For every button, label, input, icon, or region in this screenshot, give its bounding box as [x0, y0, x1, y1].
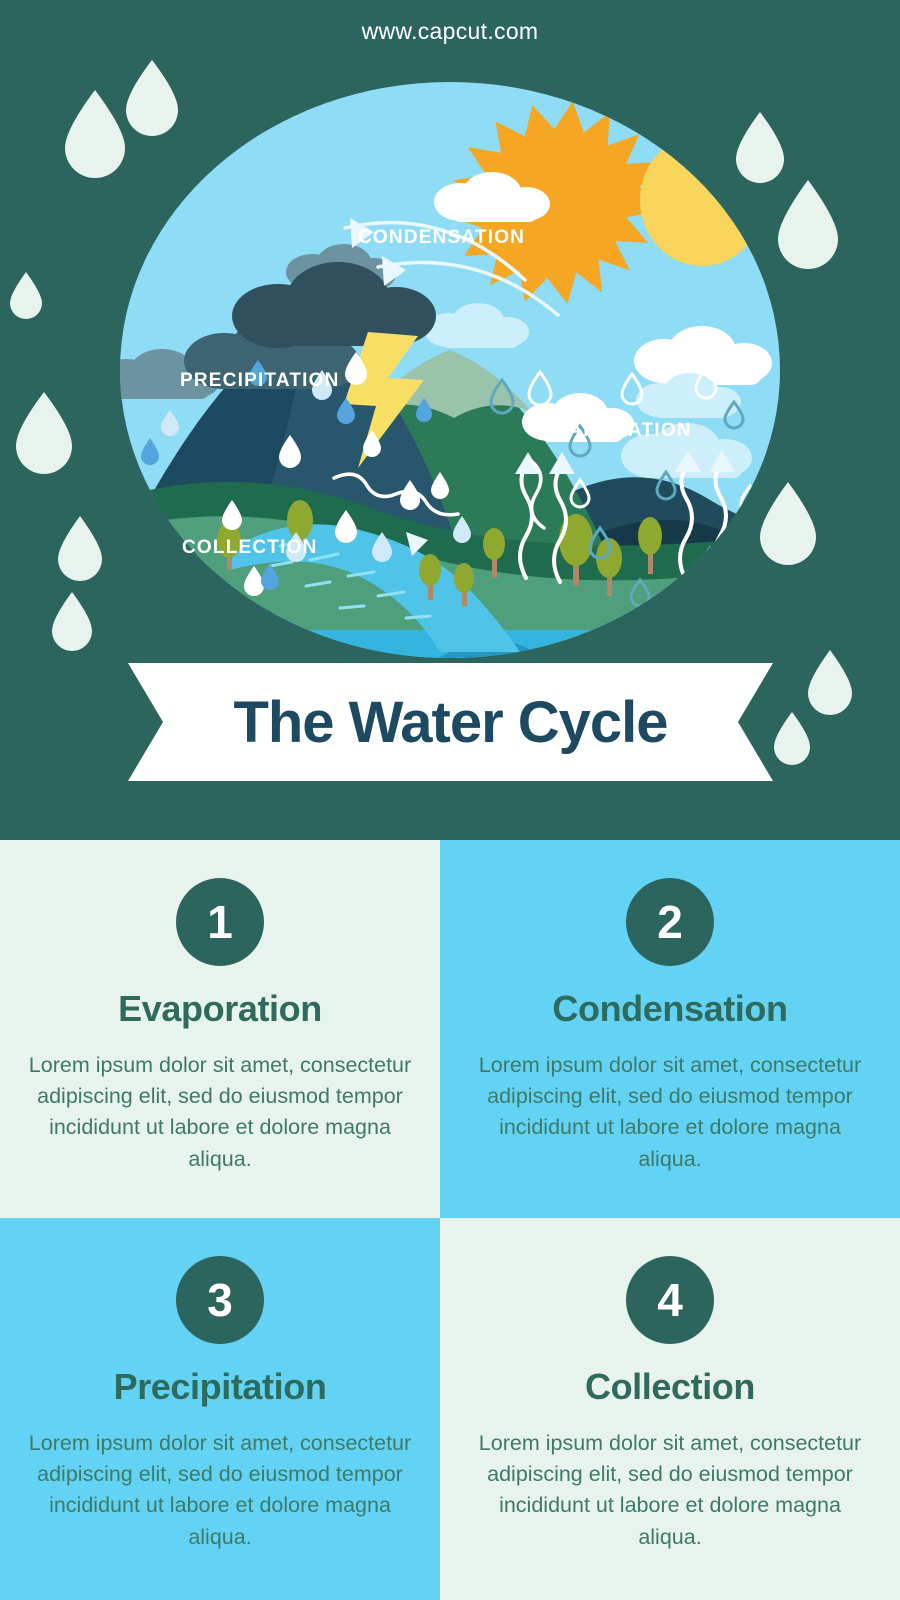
- step-card-condensation[interactable]: 2 Condensation Lorem ipsum dolor sit ame…: [440, 840, 900, 1218]
- step-number-badge: 2: [626, 878, 714, 966]
- label-collection: COLLECTION: [182, 537, 318, 559]
- label-condensation: CONDENSATION: [358, 227, 525, 249]
- raindrop-icon: [808, 650, 852, 715]
- raindrop-icon: [58, 516, 102, 581]
- step-description: Lorem ipsum dolor sit amet, consectetur …: [26, 1428, 414, 1553]
- step-number-badge: 4: [626, 1256, 714, 1344]
- step-title: Evaporation: [118, 988, 322, 1030]
- step-description: Lorem ipsum dolor sit amet, consectetur …: [470, 1428, 870, 1553]
- infographic-page: www.capcut.com: [0, 0, 900, 1600]
- raindrop-icon: [52, 592, 92, 651]
- label-precipitation: PRECIPITATION: [180, 370, 340, 392]
- step-title: Precipitation: [114, 1366, 327, 1408]
- label-evaporation: EVAPORATION: [542, 420, 692, 442]
- step-number-badge: 1: [176, 878, 264, 966]
- step-card-evaporation[interactable]: 1 Evaporation Lorem ipsum dolor sit amet…: [0, 840, 440, 1218]
- step-description: Lorem ipsum dolor sit amet, consectetur …: [470, 1050, 870, 1175]
- water-cycle-illustration: CONDENSATION PRECIPITATION EVAPORATION C…: [110, 80, 790, 660]
- page-title: The Water Cycle: [128, 663, 773, 781]
- steps-grid: 1 Evaporation Lorem ipsum dolor sit amet…: [0, 840, 900, 1600]
- raindrop-icon: [16, 392, 72, 474]
- step-card-collection[interactable]: 4 Collection Lorem ipsum dolor sit amet,…: [440, 1218, 900, 1600]
- title-banner: The Water Cycle: [128, 663, 773, 781]
- step-title: Condensation: [552, 988, 787, 1030]
- step-description: Lorem ipsum dolor sit amet, consectetur …: [26, 1050, 414, 1175]
- hero-section: www.capcut.com: [0, 0, 900, 840]
- raindrop-icon: [774, 712, 810, 765]
- step-title: Collection: [585, 1366, 755, 1408]
- site-url: www.capcut.com: [0, 18, 900, 45]
- step-number-badge: 3: [176, 1256, 264, 1344]
- step-card-precipitation[interactable]: 3 Precipitation Lorem ipsum dolor sit am…: [0, 1218, 440, 1600]
- raindrop-icon: [10, 272, 42, 319]
